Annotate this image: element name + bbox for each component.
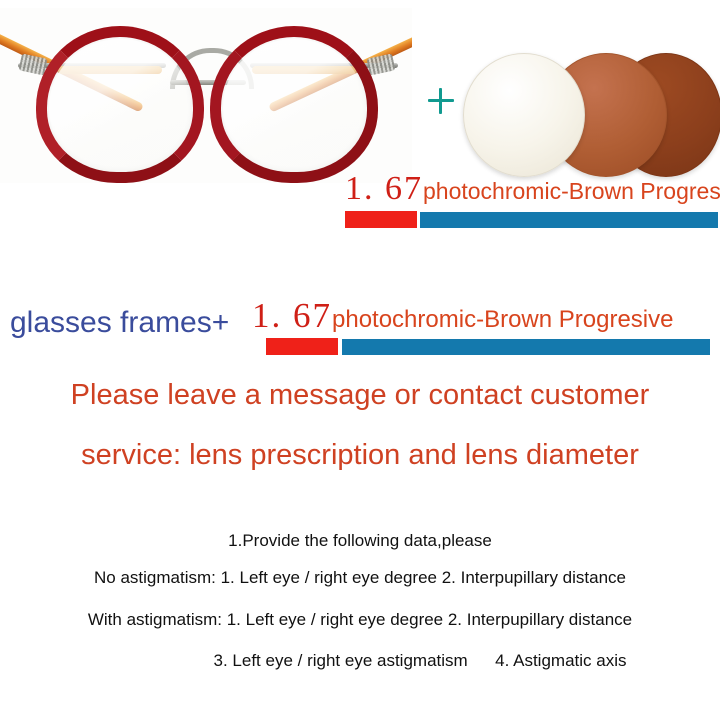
mid-lens-index-lockup: 1. 67 photochromic-Brown Progresive — [252, 298, 710, 355]
mid-lens-index-value: 1. 67 — [252, 298, 332, 333]
mid-bar-red — [266, 338, 338, 355]
glasses-frame-photo — [0, 8, 412, 183]
hero-lens-description: photochromic-Brown Progresive — [423, 178, 720, 204]
instructions-heading: 1.Provide the following data,please — [0, 530, 720, 552]
glasses-frames-label: glasses frames+ — [10, 306, 229, 340]
hero-bar-red — [345, 211, 417, 228]
hinge-right-icon — [367, 53, 396, 75]
hero-section: 1. 67 photochromic-Brown Progresive — [0, 0, 720, 250]
callout-line-2: service: lens prescription and lens diam… — [0, 438, 720, 472]
glasses-illustration — [0, 8, 412, 183]
mid-color-bars — [266, 338, 710, 355]
instructions-line-astigmatism-axis: 3. Left eye / right eye astigmatism 4. A… — [0, 650, 720, 672]
instructions-line-with-astigmatism: With astigmatism: 1. Left eye / right ey… — [0, 609, 720, 631]
clear-lens-disc — [463, 53, 585, 177]
lens-rim-left-icon — [36, 26, 204, 183]
hero-lens-index-line: 1. 67 photochromic-Brown Progresive — [345, 172, 720, 206]
hero-lens-index-value: 1. 67 — [345, 172, 423, 206]
lens-rim-right-icon — [210, 26, 378, 183]
combination-row: glasses frames+ 1. 67 photochromic-Brown… — [0, 296, 720, 358]
mid-lens-description: photochromic-Brown Progresive — [332, 306, 673, 333]
instructions-line-3a: 3. Left eye / right eye astigmatism — [214, 651, 468, 670]
callout-line-1: Please leave a message or contact custom… — [0, 378, 720, 412]
instructions-line-no-astigmatism: No astigmatism: 1. Left eye / right eye … — [0, 567, 720, 589]
product-info-page: 1. 67 photochromic-Brown Progresive glas… — [0, 0, 720, 720]
hero-lens-index-lockup: 1. 67 photochromic-Brown Progresive — [345, 172, 720, 228]
mid-bar-blue — [342, 339, 710, 355]
instructions-line-3a-wrapper: 3. Left eye / right eye astigmatism 4. A… — [94, 651, 627, 670]
hero-color-bars — [345, 211, 720, 228]
mid-lens-index-line: 1. 67 photochromic-Brown Progresive — [252, 298, 710, 333]
instructions-line-3b: 4. Astigmatic axis — [495, 651, 626, 670]
hero-bar-blue — [420, 212, 718, 228]
plus-icon — [428, 88, 454, 114]
